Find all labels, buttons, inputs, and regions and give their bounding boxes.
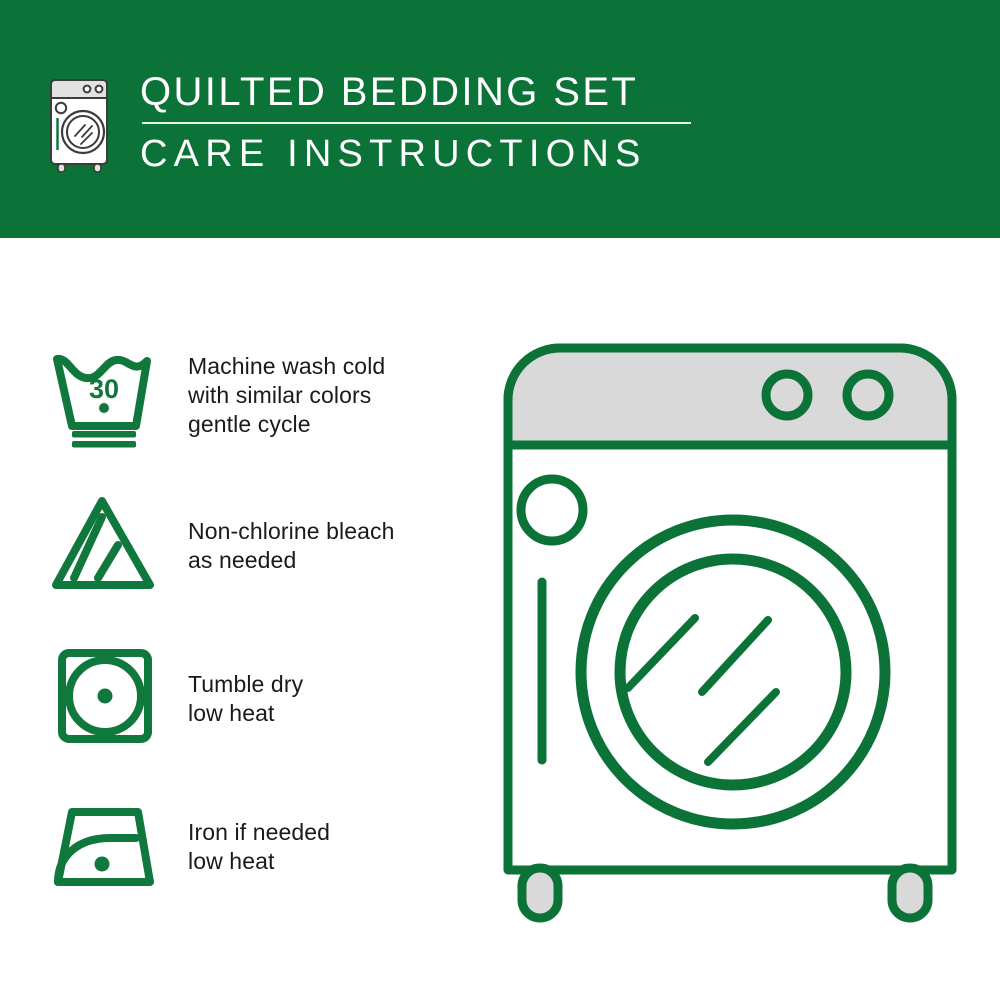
knob-left [766, 374, 808, 416]
care-row-tumble-dry: Tumble dry low heat [50, 646, 470, 751]
title-divider [142, 122, 691, 124]
care-text-tumble-dry: Tumble dry low heat [188, 646, 303, 728]
knob-right [847, 374, 889, 416]
washing-machine-icon [47, 76, 111, 174]
care-row-wash: 30 Machine wash cold with similar colors… [50, 348, 470, 453]
care-text-line: gentle cycle [188, 410, 385, 439]
header-banner: QUILTED BEDDING SET CARE INSTRUCTIONS [0, 0, 1000, 238]
care-text-wash: Machine wash cold with similar colors ge… [188, 348, 385, 439]
iron-low-heat-icon [50, 796, 168, 901]
non-chlorine-bleach-triangle-icon [50, 493, 168, 598]
header-title-group: QUILTED BEDDING SET CARE INSTRUCTIONS [140, 66, 700, 178]
wash-temp-label: 30 [89, 374, 119, 404]
care-instructions-infographic: QUILTED BEDDING SET CARE INSTRUCTIONS 30 [0, 0, 1000, 1000]
care-text-iron: Iron if needed low heat [188, 796, 330, 876]
care-text-line: Machine wash cold [188, 352, 385, 381]
detergent-indicator [521, 479, 583, 541]
wash-tub-30-icon: 30 [50, 348, 168, 453]
care-text-line: as needed [188, 546, 394, 575]
left-leg [522, 868, 558, 918]
tumble-dry-low-icon [50, 646, 168, 751]
page-subtitle: CARE INSTRUCTIONS [140, 130, 700, 178]
page-title: QUILTED BEDDING SET [140, 66, 700, 118]
care-text-bleach: Non-chlorine bleach as needed [188, 493, 394, 575]
care-text-line: Iron if needed [188, 818, 330, 847]
front-load-washing-machine-illustration [480, 320, 980, 940]
door-inner-ring [620, 559, 846, 785]
care-row-bleach: Non-chlorine bleach as needed [50, 493, 470, 598]
care-text-line: low heat [188, 847, 330, 876]
care-text-line: Non-chlorine bleach [188, 517, 394, 546]
care-text-line: Tumble dry [188, 670, 303, 699]
care-text-line: with similar colors [188, 381, 385, 410]
care-instructions-list: 30 Machine wash cold with similar colors… [0, 238, 470, 1000]
right-leg [892, 868, 928, 918]
care-text-line: low heat [188, 699, 303, 728]
care-row-iron: Iron if needed low heat [50, 796, 470, 901]
